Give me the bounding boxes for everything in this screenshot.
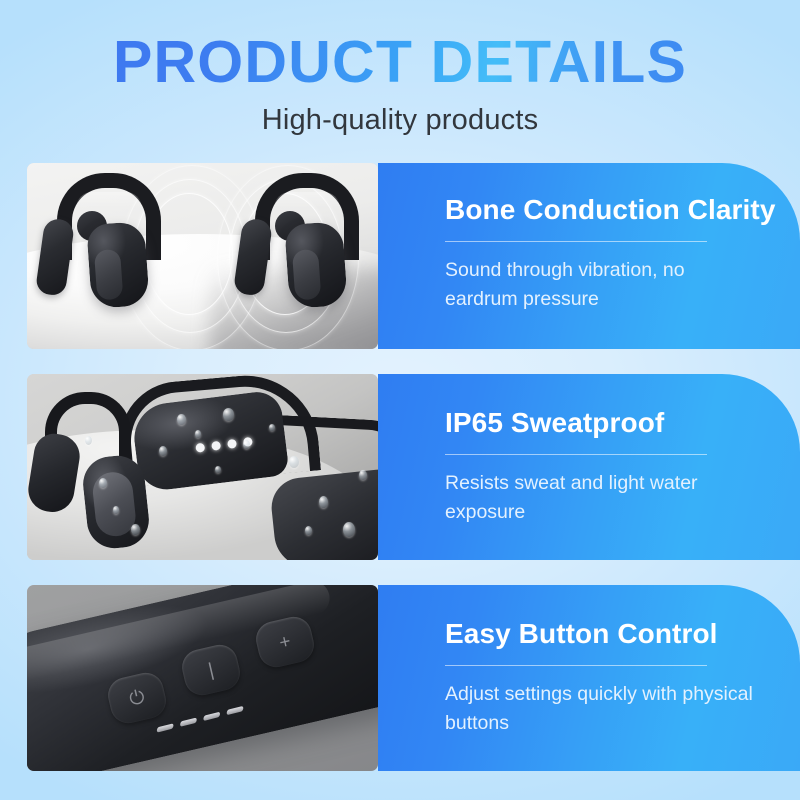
led-dot-icon: [211, 441, 221, 451]
water-droplet-icon: [359, 470, 367, 480]
product-photo-sweatproof: [27, 374, 378, 560]
feature-title: IP65 Sweatproof: [445, 406, 782, 440]
photo-backdrop: [27, 163, 378, 349]
led-dot-icon: [195, 443, 205, 453]
feature-card-sweatproof: IP65 Sweatproof Resists sweat and light …: [27, 374, 800, 560]
feature-title: Easy Button Control: [445, 617, 782, 651]
water-droplet-icon: [85, 436, 92, 445]
power-icon: ⏻: [128, 687, 147, 709]
water-droplet-icon: [159, 446, 167, 456]
earhook-tip: [35, 217, 75, 296]
feature-description: Sound through vibration, no eardrum pres…: [445, 256, 755, 315]
feature-text-panel: Easy Button Control Adjust settings quic…: [378, 585, 800, 771]
water-droplet-icon: [343, 522, 355, 537]
water-droplet-icon: [99, 478, 107, 488]
water-droplet-icon: [113, 506, 119, 514]
vent-slot-icon: [203, 711, 220, 720]
water-droplet-icon: [243, 440, 250, 449]
photo-backdrop: [27, 374, 378, 560]
earhook-right: [235, 171, 347, 321]
product-photo-buttons: ⏻ | +: [27, 585, 378, 771]
divider: [445, 665, 707, 666]
earhook-tip: [27, 431, 83, 515]
water-droplet-icon: [269, 424, 275, 431]
product-details-infographic: PRODUCT DETAILS High-quality products: [0, 0, 800, 800]
earhook-tip: [233, 217, 273, 296]
product-photo-bone-conduction: [27, 163, 378, 349]
minus-icon: |: [206, 660, 215, 680]
page-title: PRODUCT DETAILS: [0, 0, 800, 92]
feature-text-panel: IP65 Sweatproof Resists sweat and light …: [378, 374, 800, 560]
water-droplet-icon: [177, 414, 186, 425]
headphone-body-right: [269, 467, 378, 560]
feature-description: Adjust settings quickly with physical bu…: [445, 680, 755, 739]
earhook-left: [37, 171, 149, 321]
vent-slot-icon: [156, 723, 173, 732]
divider: [445, 241, 707, 242]
feature-description: Resists sweat and light water exposure: [445, 469, 755, 528]
vent-slot-icon: [180, 717, 197, 726]
divider: [445, 454, 707, 455]
water-droplet-icon: [319, 496, 328, 508]
vent-slot-icon: [226, 705, 243, 714]
photo-backdrop: ⏻ | +: [27, 585, 378, 771]
water-droplet-icon: [215, 466, 221, 473]
feature-title: Bone Conduction Clarity: [445, 193, 782, 227]
water-droplet-icon: [131, 524, 140, 535]
feature-card-bone-conduction: Bone Conduction Clarity Sound through vi…: [27, 163, 800, 349]
water-droplet-icon: [289, 456, 299, 468]
water-droplet-icon: [223, 408, 234, 421]
earhook-speaker-pod: [86, 221, 150, 309]
water-droplet-icon: [305, 526, 312, 535]
header: PRODUCT DETAILS High-quality products: [0, 0, 800, 137]
feature-card-button-control: ⏻ | + Easy Button Control: [27, 585, 800, 771]
page-subtitle: High-quality products: [0, 92, 800, 137]
water-droplet-icon: [195, 430, 201, 438]
feature-text-panel: Bone Conduction Clarity Sound through vi…: [378, 163, 800, 349]
plus-icon: +: [277, 631, 292, 652]
led-dot-icon: [227, 439, 237, 449]
earhook-speaker-pod: [284, 221, 348, 309]
